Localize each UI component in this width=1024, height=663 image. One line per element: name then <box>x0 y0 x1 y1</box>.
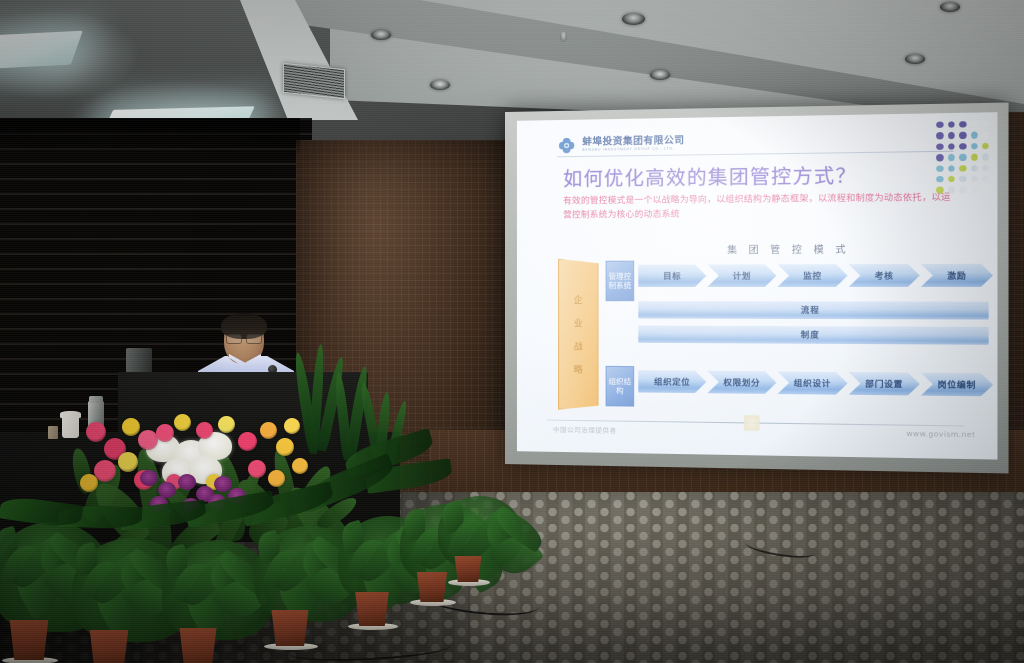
company-name-cn: 蚌埠投资集团有限公司 <box>582 136 684 147</box>
diagram-title: 集 团 管 控 模 式 <box>727 241 850 256</box>
chevron-step: 目标 <box>638 265 706 287</box>
company-name-en: BENGBU INVESTMENT GROUP CO., LTD. <box>582 148 684 153</box>
flower-bloom <box>122 418 140 436</box>
air-vent-grille <box>283 63 345 100</box>
flower-bloom <box>86 422 106 442</box>
decorative-dot <box>948 176 955 183</box>
slide-footer-left: 中国公司治理提供者 <box>553 425 617 435</box>
decorative-dot <box>971 165 978 172</box>
chevron-step: 权限划分 <box>707 371 776 394</box>
flower-bloom <box>156 424 174 442</box>
flower-bloom <box>284 418 300 434</box>
sprinkler-head-icon <box>560 32 567 42</box>
decorative-dot <box>982 186 989 193</box>
decorative-dot <box>959 143 966 150</box>
decorative-dot <box>948 143 955 150</box>
decorative-dot <box>971 176 978 183</box>
decorative-dot <box>948 132 955 139</box>
strategy-band-char: 业 <box>574 316 583 329</box>
flower-bloom <box>218 416 235 433</box>
decorative-dot-grid <box>937 121 991 196</box>
ceiling-downlight <box>371 30 391 40</box>
projection-screen-frame: 蚌埠投资集团有限公司 BENGBU INVESTMENT GROUP CO., … <box>505 103 1009 474</box>
terracotta-pot <box>268 610 312 646</box>
process-bar: 流程 <box>638 301 988 319</box>
flower-bloom <box>238 432 257 451</box>
chevron-step: 组织设计 <box>777 371 847 394</box>
decorative-dot <box>959 187 966 194</box>
decorative-dot <box>937 143 944 150</box>
small-cup <box>48 426 58 439</box>
terracotta-pot <box>352 592 392 626</box>
slide-footer-badge-icon <box>744 415 760 431</box>
decorative-dot <box>937 154 944 161</box>
flower-bloom <box>196 422 213 439</box>
decorative-dot <box>982 164 989 171</box>
presentation-slide: 蚌埠投资集团有限公司 BENGBU INVESTMENT GROUP CO., … <box>517 112 998 459</box>
ceiling-panel-light <box>0 31 83 70</box>
decorative-dot <box>982 121 989 128</box>
decorative-dot <box>959 176 966 183</box>
chevron-step: 岗位编制 <box>921 373 993 397</box>
decorative-dot <box>948 121 955 128</box>
decorative-dot <box>948 165 955 172</box>
slide-logo-text: 蚌埠投资集团有限公司 BENGBU INVESTMENT GROUP CO., … <box>582 136 684 152</box>
decorative-dot <box>937 176 944 183</box>
chevron-step: 组织定位 <box>638 370 706 393</box>
decorative-dot <box>959 121 966 128</box>
photograph-scene: 蚌埠投资集团有限公司 BENGBU INVESTMENT GROUP CO., … <box>0 0 1024 663</box>
terracotta-pot <box>176 628 220 663</box>
system-bar: 制度 <box>638 326 988 345</box>
eyeglasses-icon <box>226 334 262 343</box>
ceiling-downlight <box>622 13 645 25</box>
decorative-dot <box>937 165 944 172</box>
strategy-band-char: 战 <box>574 339 583 352</box>
terracotta-pot <box>86 630 132 663</box>
bottom-chevron-row: 组织定位权限划分组织设计部门设置岗位编制 <box>638 370 993 396</box>
decorative-dot <box>959 132 966 139</box>
terracotta-pot <box>6 620 52 660</box>
strategy-band-char: 略 <box>574 363 583 376</box>
flower-bloom <box>260 422 277 439</box>
chevron-step: 考核 <box>849 264 920 287</box>
slide-logo: 蚌埠投资集团有限公司 BENGBU INVESTMENT GROUP CO., … <box>557 134 685 155</box>
decorative-dot <box>959 165 966 172</box>
chevron-step: 部门设置 <box>849 372 920 396</box>
chevron-step: 监控 <box>777 264 847 287</box>
decorative-dot <box>971 132 978 139</box>
projection-screen: 蚌埠投资集团有限公司 BENGBU INVESTMENT GROUP CO., … <box>517 112 998 459</box>
decorative-dot <box>982 132 989 139</box>
decorative-dot <box>937 122 944 129</box>
chevron-step: 计划 <box>707 264 776 287</box>
decorative-dot <box>948 154 955 161</box>
chevron-step: 激励 <box>921 264 993 287</box>
decorative-dot <box>982 143 989 150</box>
flower-bloom <box>138 430 158 450</box>
decorative-dot <box>982 154 989 161</box>
decorative-dot <box>971 143 978 150</box>
slide-title: 如何优化高效的集团管控方式？ <box>563 160 857 191</box>
decorative-dot <box>959 154 966 161</box>
slide-footer-url: www.govism.net <box>906 430 975 439</box>
top-chevron-row: 目标计划监控考核激励 <box>638 264 993 287</box>
ceiling-downlight <box>940 2 960 12</box>
ceiling-downlight <box>650 70 670 80</box>
decorative-dot <box>971 154 978 161</box>
decorative-dot <box>971 121 978 128</box>
pinwheel-logo-icon <box>557 136 576 155</box>
teacup <box>62 416 79 438</box>
slide-subtitle: 有效的管控模式是一个以战略为导向，以组织结构为静态框架，以流程和制度为动态依托，… <box>563 191 953 223</box>
ceiling-downlight <box>905 54 925 64</box>
decorative-dot <box>971 186 978 193</box>
row-label-org-structure: 组织结构 <box>606 366 635 407</box>
wall-shadow <box>0 118 300 158</box>
ceiling-downlight <box>430 80 450 90</box>
decorative-dot <box>982 175 989 182</box>
strategy-band: 企 业 战 略 <box>558 259 598 411</box>
management-model-diagram: 集 团 管 控 模 式 企 业 战 略 管理控制系统 组织结构 目标计划监控考核… <box>533 241 984 418</box>
row-label-control-system: 管理控制系统 <box>606 261 635 302</box>
strategy-band-char: 企 <box>574 293 583 306</box>
decorative-dot <box>937 132 944 139</box>
flower-bloom <box>174 414 191 431</box>
